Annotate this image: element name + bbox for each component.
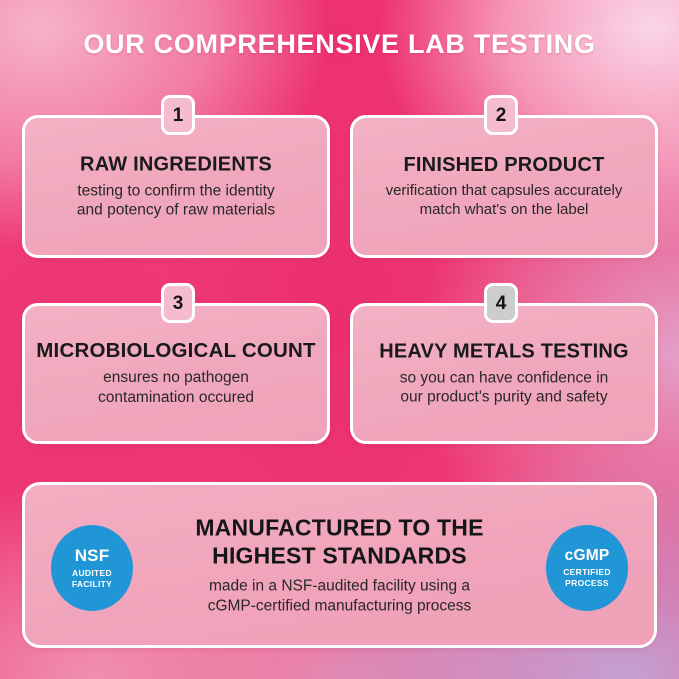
step-badge-3: 3 — [161, 283, 195, 323]
step-badge-1: 1 — [161, 95, 195, 135]
card-body-line-1: ensures no pathogen — [35, 369, 317, 388]
infographic-content: OUR COMPREHENSIVE LAB TESTING RAW INGRED… — [0, 0, 679, 679]
card-heading: FINISHED PRODUCT — [363, 154, 645, 176]
step-badge-2: 2 — [484, 95, 518, 135]
banner-heading-line-1: MANUFACTURED TO THE — [165, 513, 514, 541]
card-heading: RAW INGREDIENTS — [35, 153, 317, 175]
card-body-line-2: and potency of raw materials — [35, 201, 317, 220]
card-heading: HEAVY METALS TESTING — [363, 340, 645, 362]
card-text-block: RAW INGREDIENTS testing to confirm the i… — [35, 153, 317, 220]
infographic-title: OUR COMPREHENSIVE LAB TESTING — [0, 30, 679, 60]
cgmp-seal-subtitle-line-1: CERTIFIED — [563, 567, 611, 578]
test-card-finished-product: FINISHED PRODUCT verification that capsu… — [350, 115, 658, 258]
card-text-block: HEAVY METALS TESTING so you can have con… — [363, 340, 645, 407]
test-card-microbiological-count: MICROBIOLOGICAL COUNT ensures no pathoge… — [22, 303, 330, 444]
manufacturing-standards-banner: NSF AUDITED FACILITY MANUFACTURED TO THE… — [22, 482, 657, 648]
card-body-line-2: our product's purity and safety — [363, 388, 645, 407]
cgmp-seal-title: cGMP — [565, 548, 610, 564]
card-body-line-2: match what's on the label — [363, 201, 645, 220]
nsf-certification-seal: NSF AUDITED FACILITY — [51, 525, 133, 611]
test-card-raw-ingredients: RAW INGREDIENTS testing to confirm the i… — [22, 115, 330, 258]
banner-text-block: MANUFACTURED TO THE HIGHEST STANDARDS ma… — [165, 513, 514, 616]
card-body-line-2: contamination occured — [35, 388, 317, 407]
card-heading: MICROBIOLOGICAL COUNT — [35, 340, 317, 363]
nsf-seal-title: NSF — [75, 547, 110, 564]
banner-body-line-2: cGMP-certified manufacturing process — [165, 597, 514, 617]
nsf-seal-subtitle-line-1: AUDITED — [72, 568, 112, 579]
banner-heading-line-2: HIGHEST STANDARDS — [165, 541, 514, 569]
lab-testing-infographic: OUR COMPREHENSIVE LAB TESTING RAW INGRED… — [0, 0, 679, 679]
step-badge-4: 4 — [484, 283, 518, 323]
card-text-block: FINISHED PRODUCT verification that capsu… — [363, 154, 645, 220]
card-body-line-1: testing to confirm the identity — [35, 181, 317, 200]
card-text-block: MICROBIOLOGICAL COUNT ensures no pathoge… — [35, 340, 317, 408]
card-body-line-1: verification that capsules accurately — [363, 182, 645, 201]
cgmp-certification-seal: cGMP CERTIFIED PROCESS — [546, 525, 628, 611]
test-card-heavy-metals-testing: HEAVY METALS TESTING so you can have con… — [350, 303, 658, 444]
banner-body-line-1: made in a NSF-audited facility using a — [165, 576, 514, 596]
card-body-line-1: so you can have confidence in — [363, 368, 645, 387]
nsf-seal-subtitle-line-2: FACILITY — [72, 579, 112, 590]
cgmp-seal-subtitle-line-2: PROCESS — [565, 578, 609, 589]
